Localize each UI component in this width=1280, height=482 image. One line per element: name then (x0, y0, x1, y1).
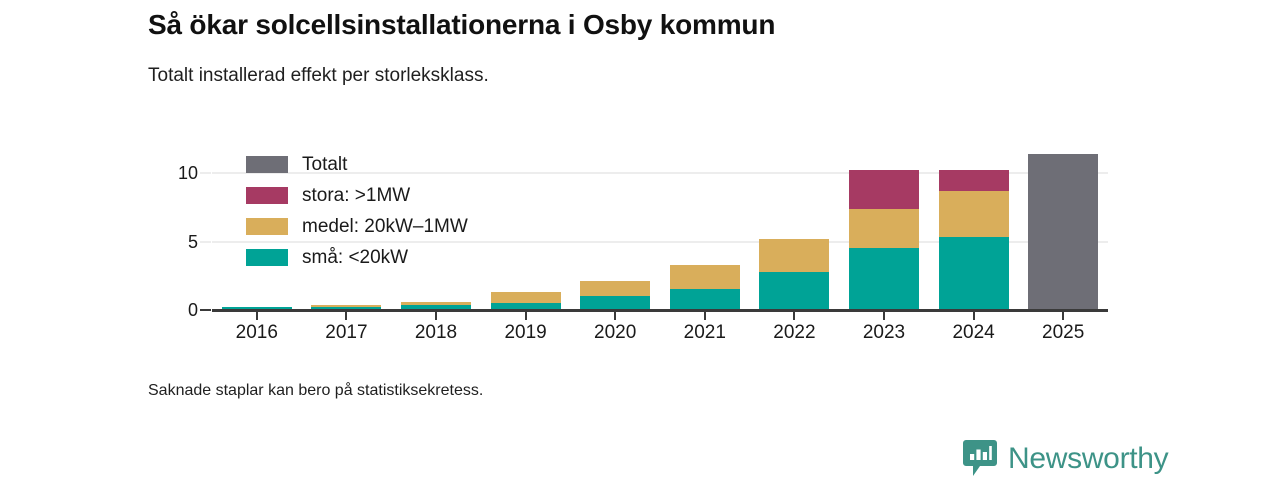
x-axis-label-2016: 2016 (207, 322, 307, 345)
bar-segment-medel-2020[interactable] (580, 281, 650, 296)
y-axis-label-5: 5 (78, 233, 198, 251)
legend-swatch-icon (246, 249, 288, 266)
x-tick-mark-2023 (883, 311, 885, 320)
bar-segment-sma-2020[interactable] (580, 296, 650, 310)
bar-segment-total-2025[interactable] (1028, 154, 1098, 310)
bar-segment-stora-2024[interactable] (939, 170, 1009, 191)
x-tick-mark-2021 (704, 311, 706, 320)
chart-legend: Totaltstora: >1MWmedel: 20kW–1MWsmå: <20… (246, 149, 468, 273)
bar-group-2024[interactable] (939, 0, 1009, 480)
bar-segment-sma-2022[interactable] (759, 272, 829, 310)
chart-footnote: Saknade staplar kan bero på statistiksek… (148, 382, 483, 400)
x-tick-mark-2016 (256, 311, 258, 320)
bar-segment-sma-2021[interactable] (670, 289, 740, 310)
x-tick-mark-2025 (1062, 311, 1064, 320)
legend-item-1[interactable]: stora: >1MW (246, 180, 468, 211)
x-tick-mark-2024 (973, 311, 975, 320)
legend-item-label: medel: 20kW–1MW (302, 217, 468, 236)
chart-plot-area: 0510 20162017201820192020202120222023202… (0, 0, 1280, 480)
x-tick-mark-2020 (614, 311, 616, 320)
y-tick-mark-10 (200, 172, 211, 174)
legend-swatch-icon (246, 218, 288, 235)
bar-segment-medel-2018[interactable] (401, 302, 471, 305)
bar-segment-medel-2019[interactable] (491, 292, 561, 303)
legend-swatch-icon (246, 187, 288, 204)
bar-segment-sma-2023[interactable] (849, 248, 919, 310)
y-axis-label-0: 0 (78, 301, 198, 319)
x-axis-label-2023: 2023 (834, 322, 934, 345)
bar-group-2025[interactable] (1028, 0, 1098, 480)
bar-group-2022[interactable] (759, 0, 829, 480)
x-axis-label-2020: 2020 (565, 322, 665, 345)
bar-segment-stora-2023[interactable] (849, 170, 919, 208)
logo-wordmark: Newsworthy (1008, 444, 1168, 474)
x-axis-label-2025: 2025 (1013, 322, 1113, 345)
x-tick-mark-2022 (793, 311, 795, 320)
x-tick-mark-2017 (345, 311, 347, 320)
x-axis-label-2019: 2019 (476, 322, 576, 345)
legend-item-3[interactable]: små: <20kW (246, 242, 468, 273)
x-axis-label-2017: 2017 (296, 322, 396, 345)
y-axis-label-10: 10 (78, 164, 198, 182)
x-axis-label-2018: 2018 (386, 322, 486, 345)
y-tick-mark-0 (200, 309, 211, 311)
legend-swatch-icon (246, 156, 288, 173)
x-axis-label-2022: 2022 (744, 322, 844, 345)
bar-segment-medel-2024[interactable] (939, 191, 1009, 238)
legend-item-label: små: <20kW (302, 248, 408, 267)
y-tick-mark-5 (200, 241, 211, 243)
bar-group-2019[interactable] (491, 0, 561, 480)
bar-group-2021[interactable] (670, 0, 740, 480)
bar-segment-medel-2017[interactable] (311, 305, 381, 307)
x-axis-label-2024: 2024 (924, 322, 1024, 345)
legend-item-label: stora: >1MW (302, 186, 410, 205)
bar-group-2020[interactable] (580, 0, 650, 480)
bar-group-2023[interactable] (849, 0, 919, 480)
bar-segment-medel-2021[interactable] (670, 265, 740, 290)
legend-item-label: Totalt (302, 155, 347, 174)
x-tick-mark-2018 (435, 311, 437, 320)
bar-segment-sma-2024[interactable] (939, 237, 1009, 310)
bar-segment-medel-2022[interactable] (759, 239, 829, 272)
newsworthy-logo: Newsworthy (963, 440, 1168, 477)
legend-item-2[interactable]: medel: 20kW–1MW (246, 211, 468, 242)
x-axis-label-2021: 2021 (655, 322, 755, 345)
bar-segment-medel-2023[interactable] (849, 209, 919, 249)
bar-chart-pin-icon (963, 440, 997, 477)
x-tick-mark-2019 (525, 311, 527, 320)
legend-item-0[interactable]: Totalt (246, 149, 468, 180)
